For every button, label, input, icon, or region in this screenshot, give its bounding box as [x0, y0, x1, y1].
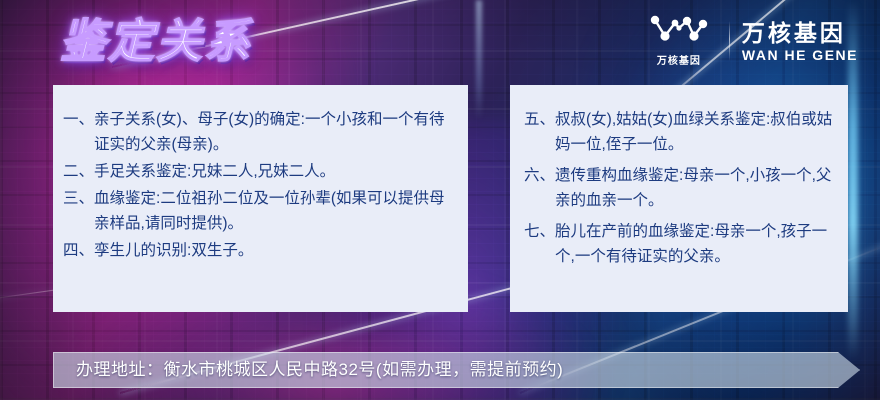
brand-name-en: WAN HE GENE — [742, 47, 858, 63]
list-item-number: 一、 — [63, 107, 94, 132]
list-item-number: 六、 — [524, 163, 555, 188]
list-item: 一、 亲子关系(女)、母子(女)的确定:一个小孩和一个有待证实的父亲(母亲)。 — [63, 107, 454, 157]
brand-name-cn: 万核基因 — [742, 20, 846, 46]
list-item-number: 四、 — [63, 238, 94, 263]
list-item-text: 孪生儿的识别:双生子。 — [94, 238, 454, 263]
brand-divider — [729, 21, 730, 61]
neon-beam-center — [476, 0, 482, 120]
list-item-number: 七、 — [524, 219, 555, 244]
list-item-text: 叔叔(女),姑姑(女)血绿关系鉴定:叔伯或姑妈一位,侄子一位。 — [555, 107, 836, 157]
service-list-panel-left: 一、 亲子关系(女)、母子(女)的确定:一个小孩和一个有待证实的父亲(母亲)。 … — [53, 85, 468, 312]
page-title: 鉴定关系 — [60, 14, 252, 68]
list-item: 六、 遗传重构血缘鉴定:母亲一个,小孩一个,父亲的血亲一个。 — [524, 163, 836, 213]
list-item-text: 血缘鉴定:二位祖孙二位及一位孙辈(如果可以提供母亲样品,请同时提供)。 — [94, 186, 454, 236]
address-banner: 办理地址：衡水市桃城区人民中路32号(如需办理，需提前预约) — [53, 352, 860, 388]
address-text: 办理地址：衡水市桃城区人民中路32号(如需办理，需提前预约) — [54, 360, 563, 380]
list-item-number: 五、 — [524, 107, 555, 132]
list-item-text: 遗传重构血缘鉴定:母亲一个,小孩一个,父亲的血亲一个。 — [555, 163, 836, 213]
list-item: 三、 血缘鉴定:二位祖孙二位及一位孙辈(如果可以提供母亲样品,请同时提供)。 — [63, 186, 454, 236]
list-item-number: 三、 — [63, 186, 94, 211]
list-item-text: 亲子关系(女)、母子(女)的确定:一个小孩和一个有待证实的父亲(母亲)。 — [94, 107, 454, 157]
list-item-number: 二、 — [63, 159, 94, 184]
dna-molecule-icon — [648, 15, 710, 50]
list-item-text: 手足关系鉴定:兄妹二人,兄妹二人。 — [94, 159, 454, 184]
list-item-text: 胎儿在产前的血缘鉴定:母亲一个,孩子一个,一个有待证实的父亲。 — [555, 219, 836, 269]
service-list-panel-right: 五、 叔叔(女),姑姑(女)血绿关系鉴定:叔伯或姑妈一位,侄子一位。 六、 遗传… — [510, 85, 848, 312]
poster-root: 鉴定关系 — [0, 0, 880, 400]
brand-lockup: 万核基因 万核基因 WAN HE GENE — [641, 16, 858, 66]
brand-mark: 万核基因 — [641, 15, 717, 67]
list-item: 五、 叔叔(女),姑姑(女)血绿关系鉴定:叔伯或姑妈一位,侄子一位。 — [524, 107, 836, 157]
brand-mark-subtitle: 万核基因 — [657, 52, 701, 67]
list-item: 四、 孪生儿的识别:双生子。 — [63, 238, 454, 263]
list-item: 二、 手足关系鉴定:兄妹二人,兄妹二人。 — [63, 159, 454, 184]
brand-wordmark: 万核基因 WAN HE GENE — [742, 20, 858, 63]
list-item: 七、 胎儿在产前的血缘鉴定:母亲一个,孩子一个,一个有待证实的父亲。 — [524, 219, 836, 269]
